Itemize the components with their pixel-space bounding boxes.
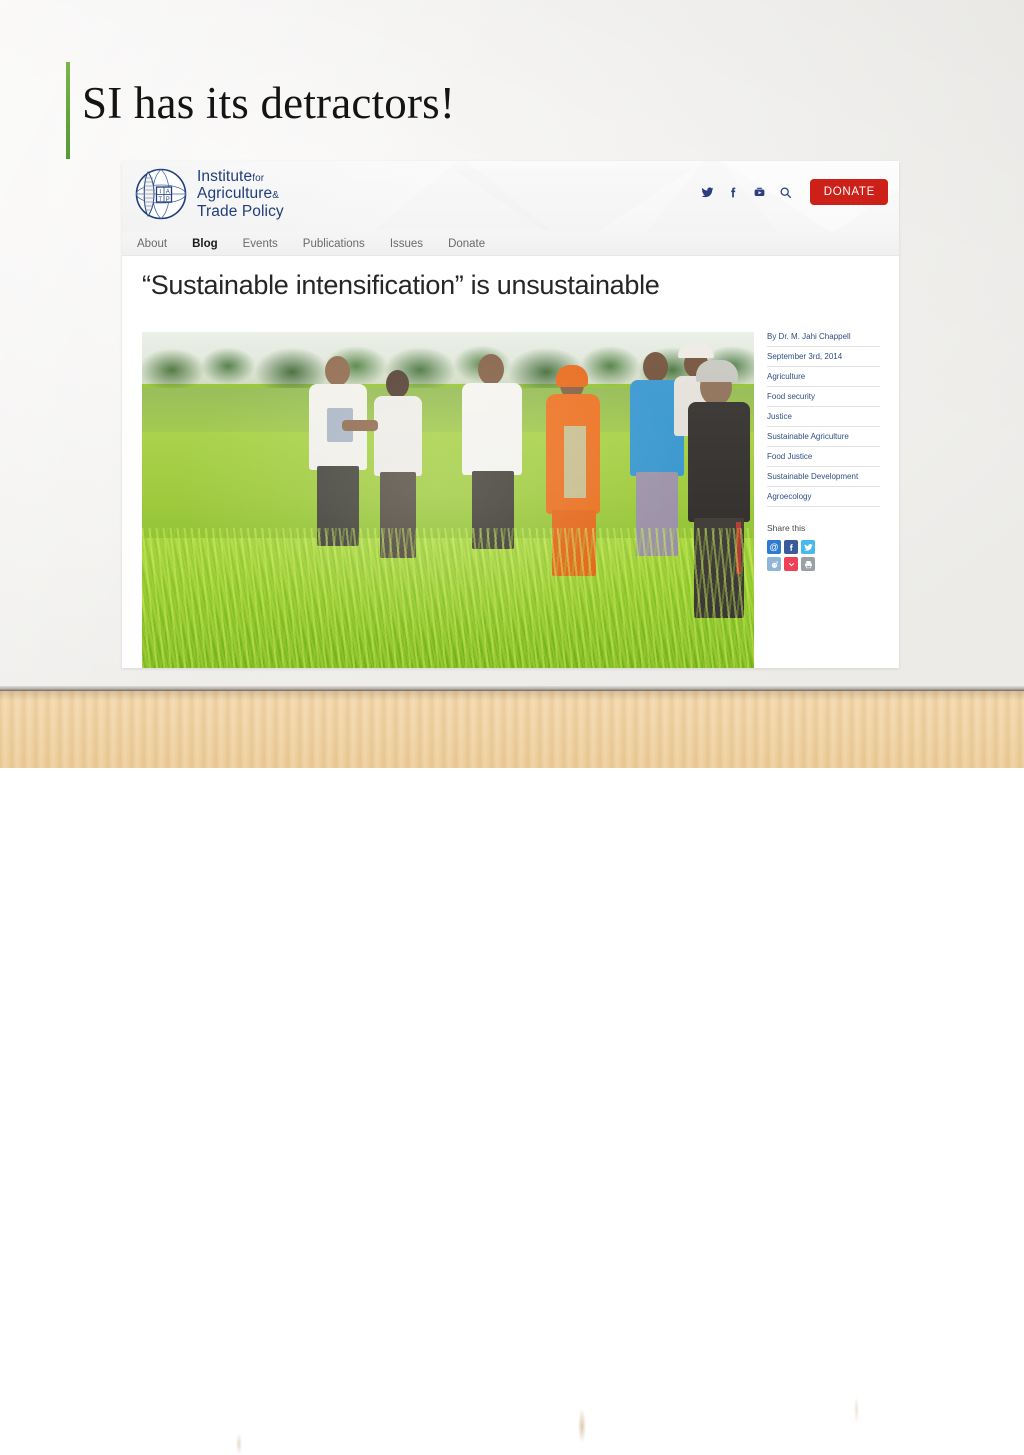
svg-text:A: A <box>166 189 170 195</box>
wood-grain-knot <box>578 1409 586 1443</box>
search-icon[interactable] <box>779 186 792 199</box>
wood-grain-knot <box>236 1433 242 1455</box>
site-logo[interactable]: I A T P Institutefor Agriculture& Trade … <box>134 167 284 221</box>
logo-line1-small: for <box>252 173 264 184</box>
article-content: “Sustainable intensification” is unsusta… <box>122 256 899 668</box>
share-print-button[interactable] <box>801 557 815 571</box>
main-navigation: About Blog Events Publications Issues Do… <box>122 232 899 256</box>
donate-button[interactable]: DONATE <box>810 179 888 205</box>
youtube-icon[interactable] <box>753 186 766 199</box>
article-byline: By Dr. M. Jahi Chappell <box>767 332 880 347</box>
tag-sustainable-agriculture[interactable]: Sustainable Agriculture <box>767 427 880 447</box>
title-accent-bar <box>66 62 70 159</box>
tag-agroecology[interactable]: Agroecology <box>767 487 880 507</box>
article-photo <box>142 332 754 668</box>
logo-line2-small: & <box>272 190 279 201</box>
page-title: SI has its detractors! <box>82 78 842 128</box>
article-date: September 3rd, 2014 <box>767 347 880 367</box>
tag-food-justice[interactable]: Food Justice <box>767 447 880 467</box>
facebook-icon[interactable] <box>727 186 740 199</box>
logo-wordmark: Institutefor Agriculture& Trade Policy <box>197 168 284 220</box>
presentation-slide: SI has its detractors! <box>0 0 1024 768</box>
globe-logo-icon: I A T P <box>134 167 188 221</box>
wood-grain-knot <box>854 1397 859 1423</box>
header-actions: DONATE <box>701 179 888 205</box>
article-headline: “Sustainable intensification” is unsusta… <box>142 270 660 301</box>
site-header: I A T P Institutefor Agriculture& Trade … <box>122 161 899 232</box>
tag-agriculture[interactable]: Agriculture <box>767 367 880 387</box>
website-screenshot: I A T P Institutefor Agriculture& Trade … <box>122 161 899 668</box>
share-section-label: Share this <box>767 523 880 533</box>
nav-item-blog[interactable]: Blog <box>192 238 218 250</box>
share-reddit-button[interactable] <box>767 557 781 571</box>
logo-line2: Agriculture <box>197 185 272 202</box>
tag-justice[interactable]: Justice <box>767 407 880 427</box>
slide-background-floor <box>0 691 1024 768</box>
share-buttons: @ <box>767 540 880 571</box>
tag-sustainable-development[interactable]: Sustainable Development <box>767 467 880 487</box>
share-twitter-button[interactable] <box>801 540 815 554</box>
share-facebook-button[interactable] <box>784 540 798 554</box>
article-sidebar: By Dr. M. Jahi Chappell September 3rd, 2… <box>767 332 880 571</box>
nav-item-publications[interactable]: Publications <box>303 238 365 250</box>
logo-line1: Institute <box>197 168 252 185</box>
nav-item-issues[interactable]: Issues <box>390 238 423 250</box>
svg-text:T: T <box>158 197 162 203</box>
nav-item-about[interactable]: About <box>137 238 167 250</box>
share-pocket-button[interactable] <box>784 557 798 571</box>
share-email-button[interactable]: @ <box>767 540 781 554</box>
svg-text:P: P <box>166 197 170 203</box>
photo-vignette <box>142 332 754 668</box>
logo-line3: Trade Policy <box>197 203 284 220</box>
nav-item-donate[interactable]: Donate <box>448 238 485 250</box>
tag-food-security[interactable]: Food security <box>767 387 880 407</box>
nav-item-events[interactable]: Events <box>243 238 278 250</box>
twitter-icon[interactable] <box>701 186 714 199</box>
